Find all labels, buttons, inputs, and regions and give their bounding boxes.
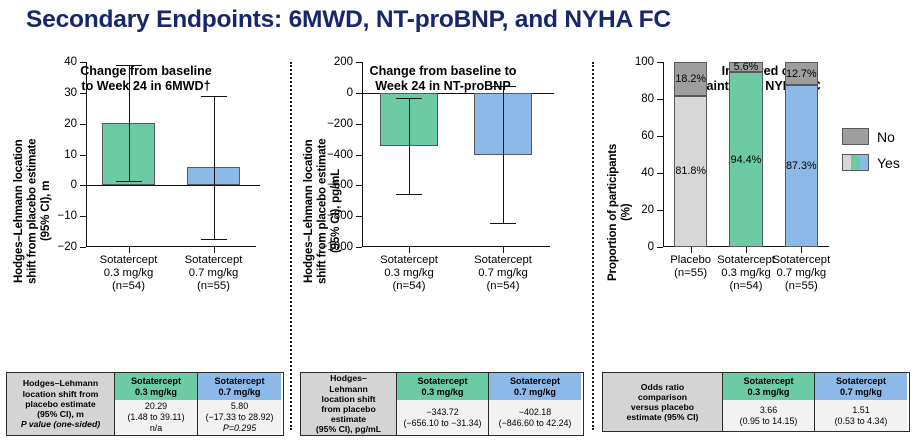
y-tick-label: 30 xyxy=(64,87,77,99)
v2: (1.48 to 39.11) xyxy=(116,412,196,423)
y-tick xyxy=(356,124,362,125)
v1: 5.80 xyxy=(199,401,280,412)
y-tick-label: −800 xyxy=(327,210,353,222)
error-bar-line xyxy=(214,96,215,239)
x-category-line: Sotatercept xyxy=(100,254,158,266)
table-6mwd-col-07-body: 5.80 (−17.33 to 28.92) P=0.295 xyxy=(198,400,281,435)
x-tick xyxy=(214,247,215,253)
rowhead-l1: Hodges– xyxy=(330,373,367,383)
stacked-segment-no: 5.6% xyxy=(729,62,762,72)
y-tick-label: 20 xyxy=(641,204,654,216)
y-tick xyxy=(80,124,86,125)
h2: 0.7 mg/kg xyxy=(840,387,882,397)
x-category-line: (n=54) xyxy=(393,280,426,292)
x-category-line: Sotatercept xyxy=(772,254,830,266)
table-nyha-col-03-header: Sotatercept 0.3 mg/kg xyxy=(723,373,814,400)
segment-label-no: 18.2% xyxy=(675,73,706,85)
table-ntprobnp-col-03-body: −343.72 (−656.10 to −31.34) xyxy=(397,400,488,435)
error-bar-cap-upper xyxy=(116,65,142,66)
rowhead-l2: Lehmann xyxy=(329,384,368,394)
stacked-segment-no: 12.7% xyxy=(785,62,818,85)
y-tick xyxy=(356,185,362,186)
h1: Sotatercept xyxy=(510,376,560,386)
y-tick xyxy=(80,216,86,217)
y-axis-line xyxy=(86,62,87,247)
rowhead-l4: (95% CI), m xyxy=(37,409,84,419)
h2: 0.7 mg/kg xyxy=(514,387,556,397)
x-category-line: (n=55) xyxy=(197,280,230,292)
legend-swatch-yes xyxy=(842,154,869,171)
v3: P=0.295 xyxy=(199,423,280,434)
x-category-label: Sotatercept0.3 mg/kg(n=54) xyxy=(359,254,459,294)
x-category-line: 0.3 mg/kg xyxy=(384,267,434,279)
table-nyha-col-07-header: Sotatercept 0.7 mg/kg xyxy=(815,373,907,400)
table-6mwd-col-03-header: Sotatercept 0.3 mg/kg xyxy=(115,373,197,400)
x-category-line: (n=54) xyxy=(112,280,145,292)
error-bar-cap-upper xyxy=(490,86,516,87)
table-6mwd-col-03-body: 20.29 (1.48 to 39.11) n/a xyxy=(115,400,197,435)
y-tick xyxy=(356,155,362,156)
zero-reference-line xyxy=(86,185,260,186)
y-tick xyxy=(80,155,86,156)
chart-nyha: 02040608010081.8%18.2%94.4%5.6%87.3%12.7… xyxy=(663,62,829,247)
h2: 0.3 mg/kg xyxy=(748,387,790,397)
x-category-line: Sotatercept xyxy=(185,254,243,266)
error-bar-cap-lower xyxy=(396,194,422,195)
table-6mwd-col-07: Sotatercept 0.7 mg/kg 5.80 (−17.33 to 28… xyxy=(198,373,281,435)
error-bar-cap-upper xyxy=(396,98,422,99)
x-category-line: Sotatercept xyxy=(380,254,438,266)
y-tick-label: 40 xyxy=(64,56,77,68)
y-axis-line xyxy=(663,62,664,247)
x-category-line: (n=54) xyxy=(487,280,520,292)
rowhead-l2: location shift from xyxy=(23,389,99,399)
y-axis-title-line: Hodges–Lehmann location xyxy=(12,139,25,283)
rowhead-l4: from placebo xyxy=(321,404,376,414)
y-tick-label: 10 xyxy=(64,149,77,161)
y-tick-label: −600 xyxy=(327,179,353,191)
y-tick-label: 0 xyxy=(347,87,353,99)
table-ntprobnp: Hodges– Lehmann location shift from plac… xyxy=(300,372,584,436)
rowhead-l3: placebo estimate xyxy=(25,399,96,409)
segment-label-yes: 81.8% xyxy=(675,165,706,177)
stacked-segment-yes: 87.3% xyxy=(785,85,818,247)
error-bar-line xyxy=(409,98,410,194)
y-axis-title-line: (%) xyxy=(620,203,633,220)
table-6mwd-col-07-header: Sotatercept 0.7 mg/kg xyxy=(198,373,281,400)
segment-label-no: 12.7% xyxy=(786,68,817,80)
rowhead-l5: estimate xyxy=(331,414,366,424)
y-tick xyxy=(657,99,663,100)
rowhead-l5: P value (one-sided) xyxy=(21,419,100,429)
y-tick xyxy=(80,247,86,248)
x-tick xyxy=(503,247,504,253)
rowhead-l3: versus placebo xyxy=(631,402,694,412)
chart-6mwd: −20−10010203040 xyxy=(86,62,256,247)
y-tick xyxy=(80,62,86,63)
v1: 3.66 xyxy=(724,405,813,416)
x-tick xyxy=(801,247,802,253)
x-category-label: Sotatercept0.7 mg/kg(n=55) xyxy=(164,254,264,294)
h2: 0.7 mg/kg xyxy=(219,387,261,397)
table-6mwd: Hodges–Lehmann location shift from place… xyxy=(6,372,284,436)
y-tick-label: 60 xyxy=(641,130,654,142)
error-bar-line xyxy=(129,65,130,181)
y-tick xyxy=(356,216,362,217)
y-tick-label: −400 xyxy=(327,149,353,161)
y-tick xyxy=(657,247,663,248)
x-category-line: 0.7 mg/kg xyxy=(777,267,827,279)
x-category-line: Sotatercept xyxy=(474,254,532,266)
y-tick-label: 20 xyxy=(64,118,77,130)
x-tick xyxy=(691,247,692,253)
error-bar-cap-upper xyxy=(201,96,227,97)
x-axis-line xyxy=(362,246,550,247)
table-ntprobnp-col-07-header: Sotatercept 0.7 mg/kg xyxy=(489,373,581,400)
y-tick xyxy=(657,136,663,137)
x-category-label: Sotatercept0.7 mg/kg(n=54) xyxy=(453,254,553,294)
stacked-segment-no: 18.2% xyxy=(674,62,707,96)
y-tick xyxy=(657,62,663,63)
x-tick xyxy=(746,247,747,253)
v3: n/a xyxy=(116,423,196,434)
page-title: Secondary Endpoints: 6MWD, NT-proBNP, an… xyxy=(26,6,906,34)
error-bar-line xyxy=(503,86,504,223)
segment-label-yes: 94.4% xyxy=(730,154,761,166)
table-ntprobnp-col-03-header: Sotatercept 0.3 mg/kg xyxy=(397,373,488,400)
table-ntprobnp-col-07-body: −402.18 (−846.60 to 42.24) xyxy=(489,400,581,435)
y-tick-label: 100 xyxy=(635,56,654,68)
rowhead-l6: (95% CI), pg/mL xyxy=(316,424,381,434)
v2: (−846.60 to 42.24) xyxy=(490,418,580,429)
y-tick xyxy=(356,62,362,63)
table-nyha-rowheader: Odds ratio comparison versus placebo est… xyxy=(603,373,723,431)
table-ntprobnp-col-07: Sotatercept 0.7 mg/kg −402.18 (−846.60 t… xyxy=(489,373,581,435)
y-tick xyxy=(80,93,86,94)
rowhead-l4: estimate (95% CI) xyxy=(627,412,699,422)
y-tick-label: −1000 xyxy=(321,241,353,253)
y-tick-label: 40 xyxy=(641,167,654,179)
rowhead-l1: Odds ratio xyxy=(641,382,684,392)
v1: 20.29 xyxy=(116,401,196,412)
error-bar-cap-lower xyxy=(490,223,516,224)
table-6mwd-col-03: Sotatercept 0.3 mg/kg 20.29 (1.48 to 39.… xyxy=(115,373,198,435)
segment-label-yes: 87.3% xyxy=(786,160,817,172)
y-axis-line xyxy=(362,62,363,247)
nyha-legend: No Yes xyxy=(842,128,900,180)
x-tick xyxy=(129,247,130,253)
rowhead-l1: Hodges–Lehmann xyxy=(23,378,98,388)
table-nyha-col-07: Sotatercept 0.7 mg/kg 1.51 (0.53 to 4.34… xyxy=(815,373,907,431)
x-category-label: Sotatercept0.7 mg/kg(n=55) xyxy=(751,254,851,294)
h1: Sotatercept xyxy=(836,376,886,386)
y-tick-label: 0 xyxy=(71,179,77,191)
y-tick-label: 0 xyxy=(648,241,654,253)
v2: (−17.33 to 28.92) xyxy=(199,412,280,423)
stacked-segment-yes: 94.4% xyxy=(729,72,762,247)
v1: −402.18 xyxy=(490,407,580,418)
legend-swatch-no xyxy=(842,128,869,145)
table-nyha-col-03: Sotatercept 0.3 mg/kg 3.66 (0.95 to 14.1… xyxy=(723,373,815,431)
y-axis-title-line: Proportion of participants xyxy=(606,143,619,280)
table-6mwd-rowheader: Hodges–Lehmann location shift from place… xyxy=(7,373,115,435)
y-axis-title-line: Hodges–Lehmann location xyxy=(302,139,315,283)
y-tick-label: −200 xyxy=(327,118,353,130)
h1: Sotatercept xyxy=(131,376,181,386)
v1: 1.51 xyxy=(816,405,906,416)
legend-item-yes[interactable]: Yes xyxy=(842,154,900,171)
chart-ntprobnp: −1000−800−600−400−2000200 xyxy=(362,62,550,247)
table-nyha-col-07-body: 1.51 (0.53 to 4.34) xyxy=(815,400,907,431)
h1: Sotatercept xyxy=(417,376,467,386)
y-axis-title-nyha: Proportion of participants(%) xyxy=(606,126,633,298)
table-ntprobnp-rowheader: Hodges– Lehmann location shift from plac… xyxy=(301,373,397,435)
error-bar-cap-lower xyxy=(201,239,227,240)
table-nyha-col-03-body: 3.66 (0.95 to 14.15) xyxy=(723,400,814,431)
rowhead-l2: comparison xyxy=(638,392,687,402)
y-axis-title-line: shift from placebo estimate xyxy=(26,138,39,283)
x-tick xyxy=(409,247,410,253)
y-tick-label: −10 xyxy=(57,210,77,222)
h1: Sotatercept xyxy=(743,376,793,386)
y-tick-label: −20 xyxy=(57,241,77,253)
v2: (0.53 to 4.34) xyxy=(816,416,906,427)
v1: −343.72 xyxy=(398,407,487,418)
y-tick-label: 80 xyxy=(641,93,654,105)
h2: 0.3 mg/kg xyxy=(135,387,177,397)
x-category-line: 0.7 mg/kg xyxy=(189,267,239,279)
x-category-line: (n=55) xyxy=(785,280,818,292)
v2: (−656.10 to −31.34) xyxy=(398,418,487,429)
h2: 0.3 mg/kg xyxy=(422,387,464,397)
legend-item-no[interactable]: No xyxy=(842,128,900,145)
legend-label-no: No xyxy=(877,129,895,145)
y-tick xyxy=(657,173,663,174)
error-bar-cap-lower xyxy=(116,181,142,182)
y-tick-label: 200 xyxy=(334,56,353,68)
table-nyha: Odds ratio comparison versus placebo est… xyxy=(602,372,910,432)
y-axis-title-6mwd: Hodges–Lehmann locationshift from placeb… xyxy=(12,122,53,300)
legend-label-yes: Yes xyxy=(877,155,900,171)
x-category-line: 0.3 mg/kg xyxy=(104,267,154,279)
stacked-segment-yes: 81.8% xyxy=(674,96,707,247)
table-ntprobnp-col-03: Sotatercept 0.3 mg/kg −343.72 (−656.10 t… xyxy=(397,373,489,435)
y-tick xyxy=(657,210,663,211)
y-axis-title-line: (95% CI), m xyxy=(39,181,52,241)
x-axis-line xyxy=(86,246,256,247)
rowhead-l3: location shift xyxy=(321,394,375,404)
x-category-line: 0.7 mg/kg xyxy=(478,267,528,279)
y-tick xyxy=(356,247,362,248)
segment-label-no: 5.6% xyxy=(730,61,761,73)
h1: Sotatercept xyxy=(214,376,264,386)
v2: (0.95 to 14.15) xyxy=(724,416,813,427)
